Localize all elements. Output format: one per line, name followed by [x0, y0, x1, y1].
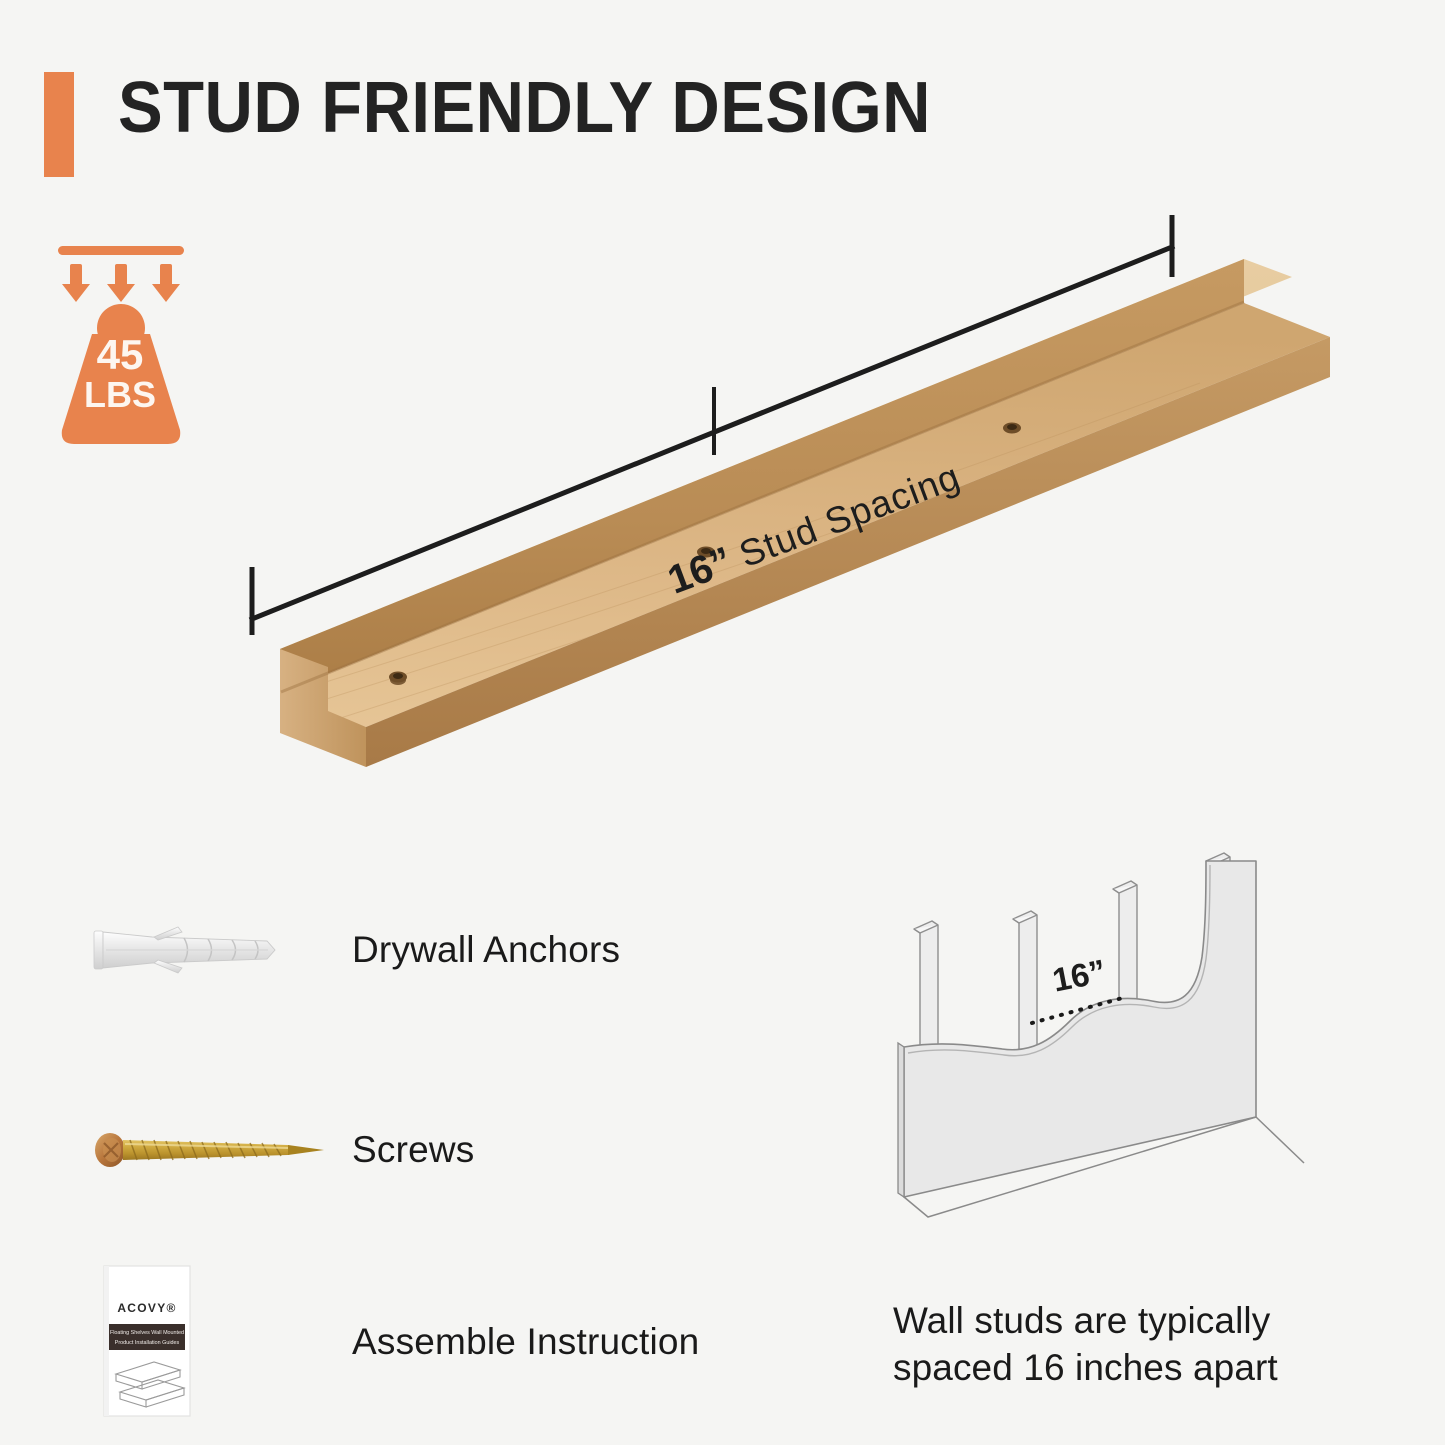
instruction-booklet-graphic: ACOVY® Floating Shelves Wall Mounted Pro… — [92, 1262, 212, 1422]
caption-line-1: Wall studs are typically — [893, 1297, 1363, 1344]
drywall-anchor-icon — [92, 919, 352, 981]
list-item: ACOVY® Floating Shelves Wall Mounted Pro… — [92, 1292, 792, 1392]
wall-stud-graphic — [880, 845, 1360, 1255]
list-item: Screws — [92, 1100, 792, 1200]
drywall-anchor-graphic — [92, 919, 292, 981]
booklet-line1: Floating Shelves Wall Mounted — [110, 1330, 184, 1336]
page-title: STUD FRIENDLY DESIGN — [118, 72, 931, 144]
booklet-line2: Product Installation Guides — [115, 1340, 180, 1346]
included-accessories-list: Drywall Anchors — [92, 900, 792, 1300]
caption-line-2: spaced 16 inches apart — [893, 1344, 1363, 1391]
feature-label: Screws — [352, 1129, 475, 1171]
screw-icon — [92, 1122, 352, 1178]
list-item: Drywall Anchors — [92, 900, 792, 1000]
wall-stud-diagram — [880, 845, 1360, 1255]
page-header: STUD FRIENDLY DESIGN — [44, 72, 992, 177]
screw-graphic — [92, 1122, 327, 1178]
infographic-page: STUD FRIENDLY DESIGN 45 LBS — [0, 0, 1445, 1445]
feature-label: Assemble Instruction — [352, 1321, 699, 1363]
feature-label: Drywall Anchors — [352, 929, 620, 971]
booklet-brand: ACOVY® — [117, 1301, 176, 1315]
instruction-booklet-icon: ACOVY® Floating Shelves Wall Mounted Pro… — [92, 1262, 352, 1422]
drywall-sheet — [904, 861, 1256, 1197]
accent-bar — [44, 72, 74, 177]
floating-shelf-ledge — [140, 215, 1330, 825]
diagram-caption: Wall studs are typically spaced 16 inche… — [893, 1297, 1363, 1392]
product-hero: 16” Stud Spacing — [140, 215, 1330, 825]
